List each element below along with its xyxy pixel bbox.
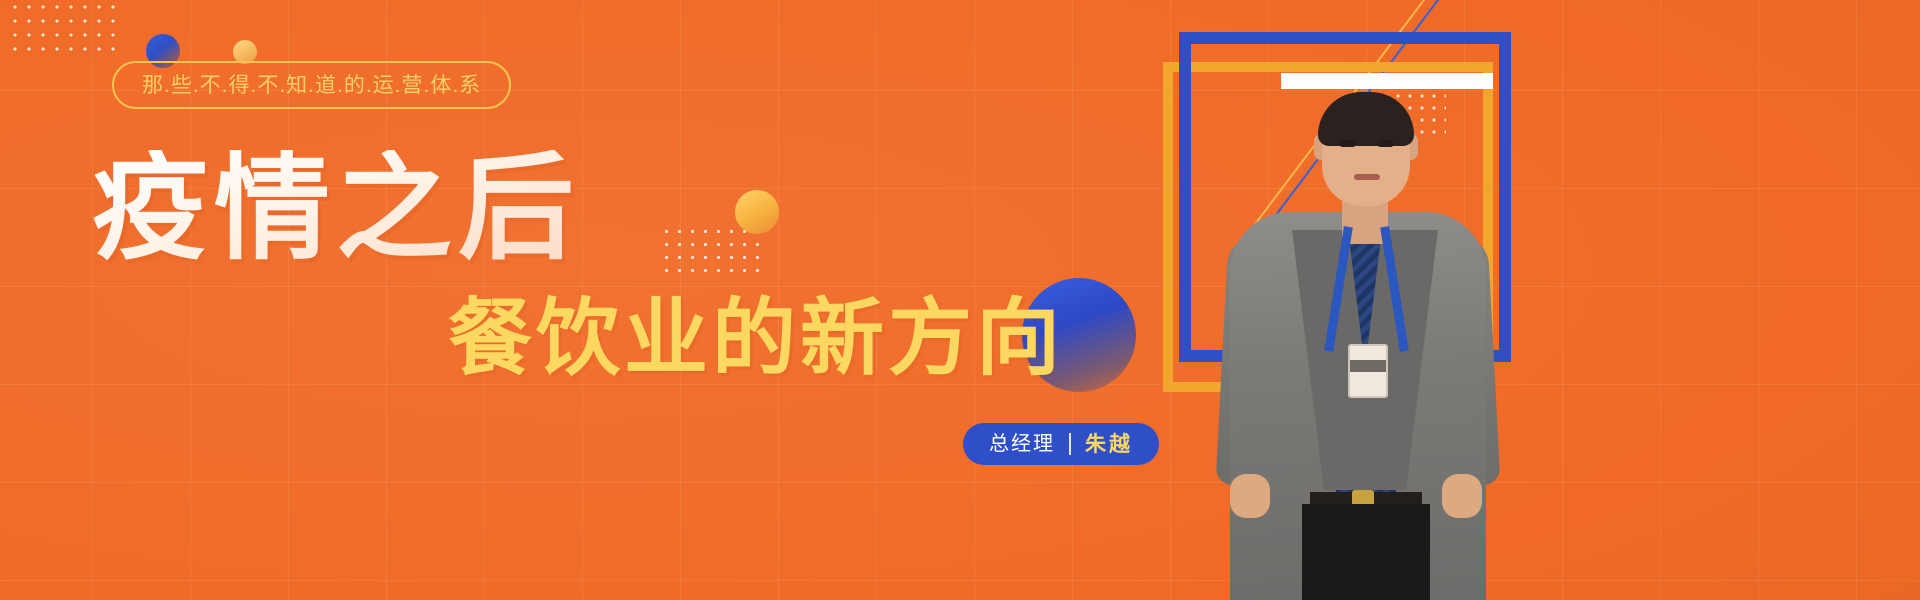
portrait-fade xyxy=(1190,564,1520,600)
badge-divider xyxy=(1069,433,1071,455)
speaker-badge: 总经理 朱越 xyxy=(963,423,1159,465)
page-subtitle: 餐饮业的新方向 xyxy=(448,296,1064,380)
promo-banner: 那.些.不.得.不.知.道.的.运.营.体.系 疫情之后 餐饮业的新方向 xyxy=(0,0,1920,600)
dot-grid-icon xyxy=(8,0,124,58)
gradient-sphere-icon xyxy=(735,190,779,234)
portrait-hair xyxy=(1318,92,1414,146)
speaker-role: 总经理 xyxy=(989,434,1069,454)
portrait-hand-left xyxy=(1230,474,1270,518)
speaker-portrait xyxy=(1190,60,1520,600)
portrait-brow-left xyxy=(1336,130,1358,135)
portrait-eye-right xyxy=(1377,140,1394,147)
speaker-name: 朱越 xyxy=(1071,434,1133,455)
dot-grid-icon xyxy=(660,225,764,273)
portrait-id-badge-strip xyxy=(1350,360,1386,372)
portrait-hand-right xyxy=(1442,474,1482,518)
portrait-brow-right xyxy=(1374,130,1396,135)
portrait-mouth xyxy=(1354,174,1380,180)
portrait-eye-left xyxy=(1339,140,1356,147)
page-title: 疫情之后 xyxy=(92,150,580,266)
subtitle-pill: 那.些.不.得.不.知.道.的.运.营.体.系 xyxy=(112,61,511,109)
subtitle-text: 那.些.不.得.不.知.道.的.运.营.体.系 xyxy=(142,75,481,96)
